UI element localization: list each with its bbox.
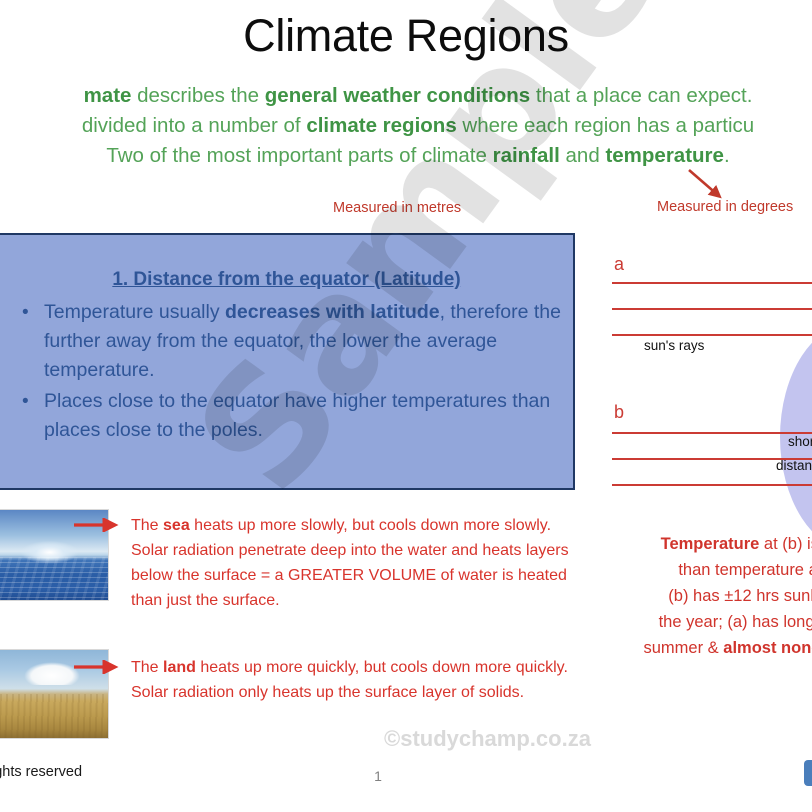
- list-item: • Places close to the equator have highe…: [14, 387, 561, 445]
- sun-ray-line: [612, 282, 812, 284]
- red-line: Temperature at (b) is higher: [600, 531, 812, 557]
- intro-line-2: divided into a number of climate regions…: [0, 111, 812, 141]
- intro-line-3: Two of the most important parts of clima…: [0, 141, 812, 171]
- intro-paragraph: mate describes the general weather condi…: [0, 81, 812, 171]
- caption-measured-in-metres: Measured in metres: [333, 200, 461, 216]
- page-title: Climate Regions: [0, 12, 812, 59]
- list-item: • Temperature usually decreases with lat…: [14, 298, 561, 385]
- slide-canvas: Climate Regions mate describes the gener…: [0, 0, 812, 812]
- sun-ray-line: [612, 334, 812, 336]
- sun-ray-line: [612, 308, 812, 310]
- red-arrow-icon: [686, 168, 730, 204]
- temperature-explanation-text: Temperature at (b) is higher than temper…: [600, 531, 812, 661]
- land-description-text: The land heats up more quickly, but cool…: [131, 655, 581, 705]
- bullet-text: Temperature usually decreases with latit…: [44, 301, 561, 381]
- bullet-marker-icon: •: [22, 387, 29, 416]
- red-line: summer & almost none in winter: [600, 635, 812, 661]
- bullet-marker-icon: •: [22, 298, 29, 327]
- intro-line-1: mate describes the general weather condi…: [0, 81, 812, 111]
- red-arrow-icon: [72, 660, 126, 674]
- diagram-label-b: b: [614, 402, 624, 423]
- site-watermark: ©studychamp.co.za: [384, 726, 591, 752]
- blue-box-bullet-list: • Temperature usually decreases with lat…: [14, 298, 561, 447]
- sun-ray-line: [612, 432, 812, 434]
- red-line: than temperature at (a);: [600, 557, 812, 583]
- sea-description-text: The sea heats up more slowly, but cools …: [131, 513, 591, 613]
- latitude-info-box: 1. Distance from the equator (Latitude) …: [0, 233, 575, 490]
- blue-box-heading: 1. Distance from the equator (Latitude): [0, 269, 573, 291]
- sun-ray-line: [612, 484, 812, 486]
- short-label: short: [788, 434, 812, 449]
- red-line: (b) has ±12 hrs sunlight all: [600, 583, 812, 609]
- red-arrow-icon: [72, 518, 126, 532]
- suns-rays-label: sun's rays: [644, 338, 704, 353]
- edge-accent-shape: [804, 760, 812, 786]
- bullet-text: Places close to the equator have higher …: [44, 390, 550, 441]
- page-number: 1: [0, 768, 756, 784]
- suns-rays-diagram: a sun's rays b short distance: [612, 250, 812, 510]
- distance-label: distance: [776, 458, 812, 473]
- diagram-label-a: a: [614, 254, 624, 275]
- red-line: the year; (a) has long days in: [600, 609, 812, 635]
